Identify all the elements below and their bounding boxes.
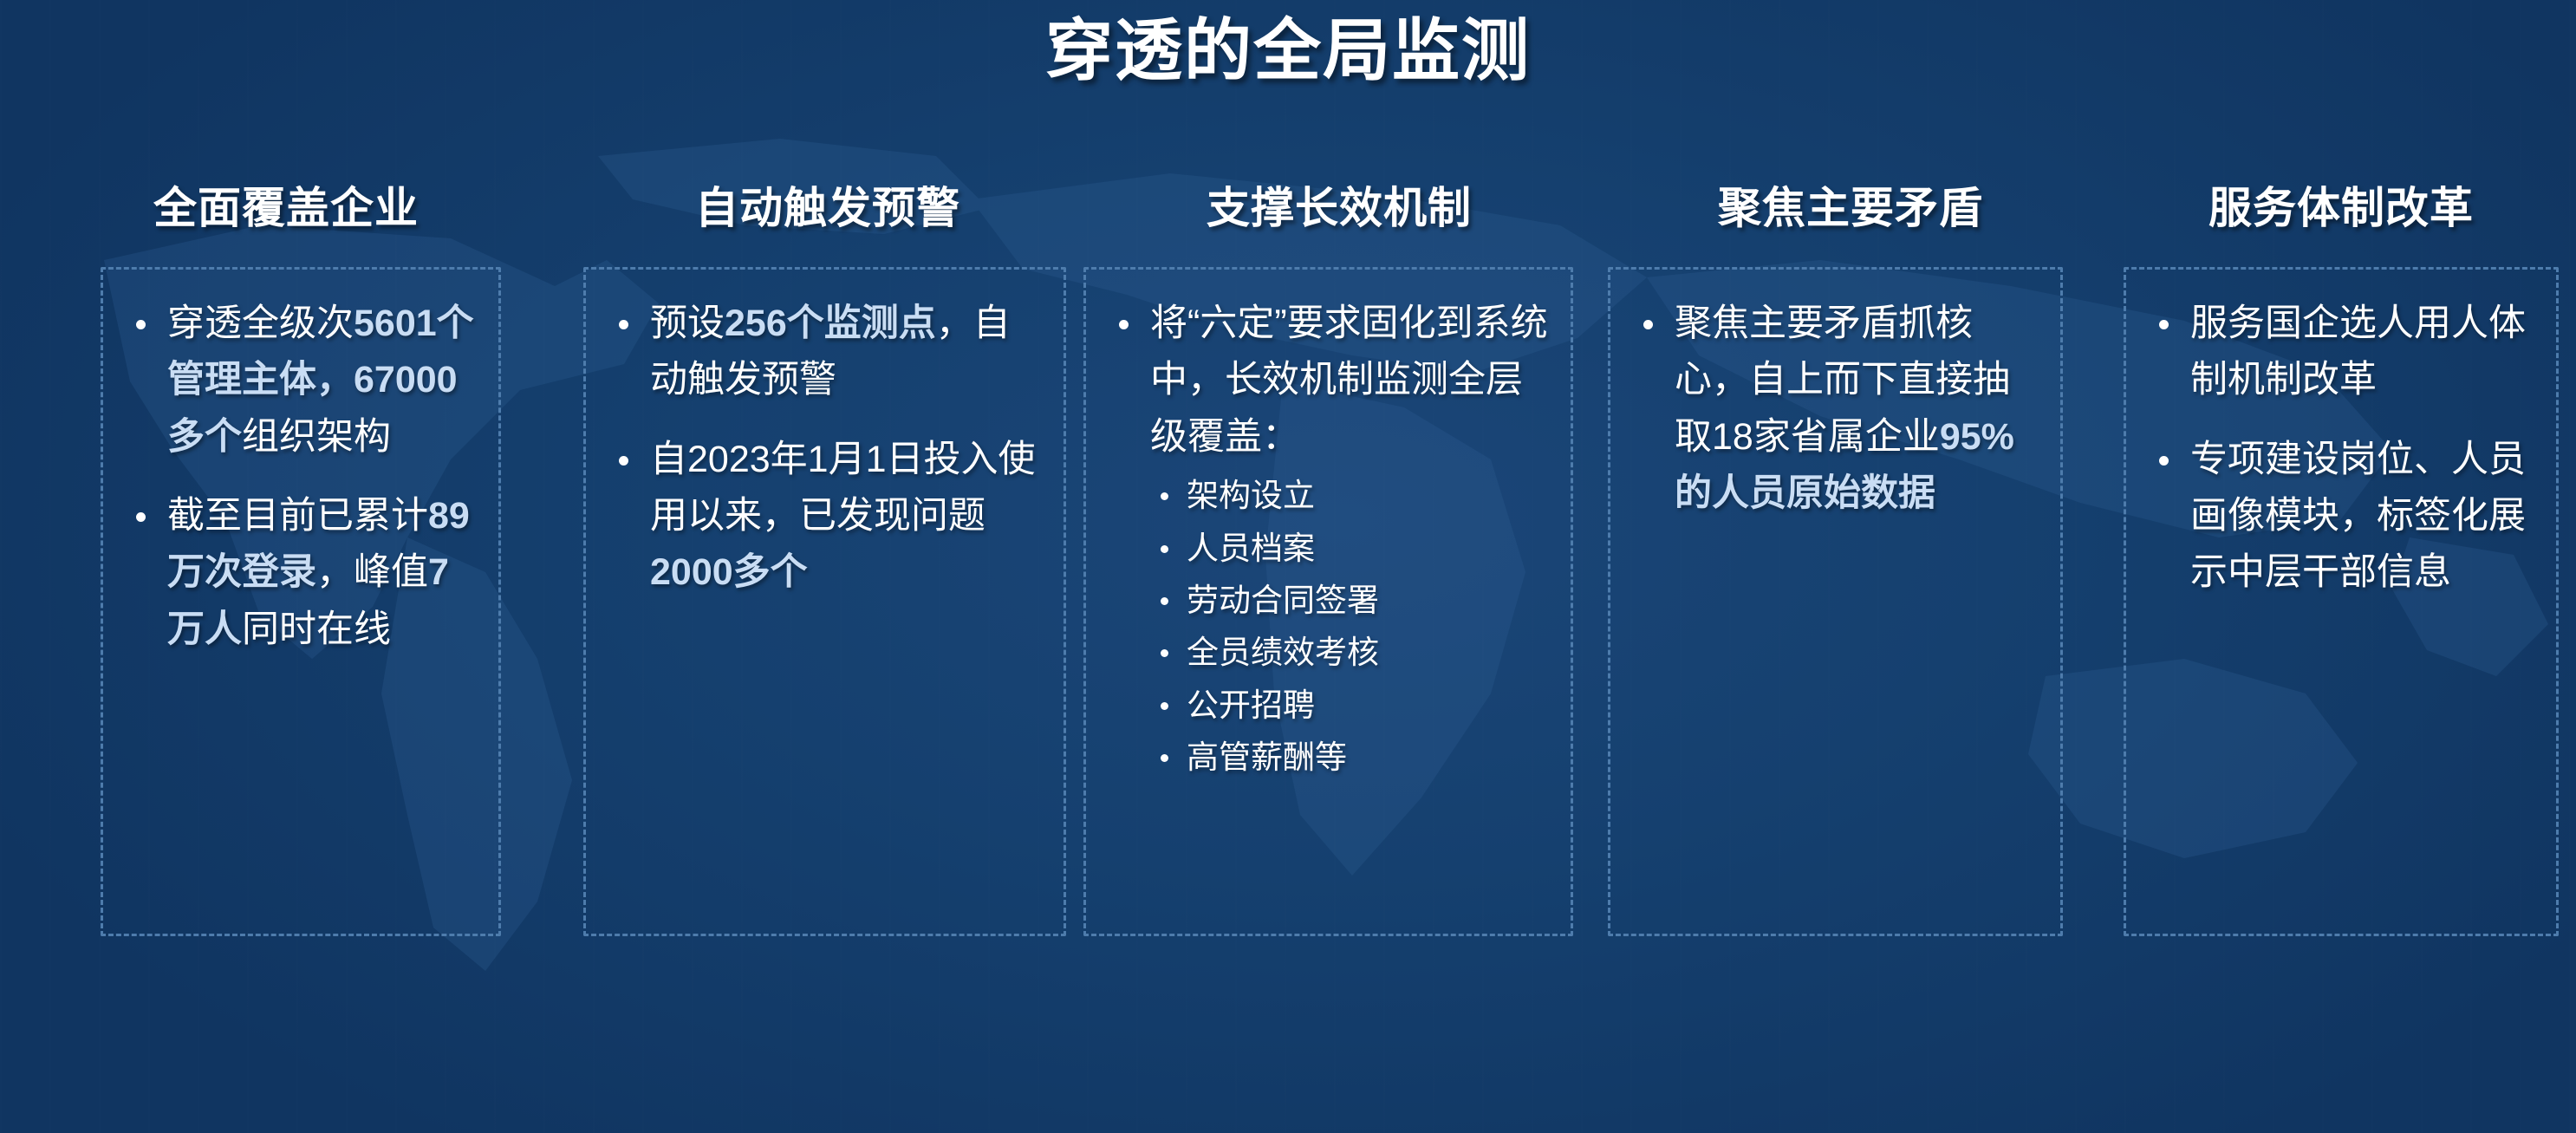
list-item: 聚焦主要矛盾抓核心，自上而下直接抽取18家省属企业95%的人员原始数据: [1630, 296, 2038, 522]
bullet-list-3: 将“六定”要求固化到系统中，长效机制监测全层级覆盖： 架构设立 人员档案 劳动合…: [1105, 296, 1548, 784]
bullet-segment: ，峰值: [316, 551, 428, 593]
slide-canvas: 穿透的全局监测 全面覆盖企业 穿透全级次5601个管理主体，67000多个组织架…: [0, 0, 2576, 1133]
column-key-contradiction: 聚焦主要矛盾 聚焦主要矛盾抓核心，自上而下直接抽取18家省属企业95%的人员原始…: [1595, 182, 2106, 1066]
content-box-4: 聚焦主要矛盾抓核心，自上而下直接抽取18家省属企业95%的人员原始数据: [1608, 267, 2063, 936]
sub-list-item: 劳动合同签署: [1150, 576, 1548, 626]
list-item: 服务国企选人用人体制机制改革: [2145, 296, 2534, 409]
bullet-list-5: 服务国企选人用人体制机制改革 专项建设岗位、人员画像模块，标签化展示中层干部信息: [2145, 296, 2534, 602]
bullet-list-4: 聚焦主要矛盾抓核心，自上而下直接抽取18家省属企业95%的人员原始数据: [1630, 296, 2038, 522]
bullet-segment: 截至目前已累计: [167, 495, 428, 537]
sub-list-item: 架构设立: [1150, 471, 1548, 521]
column-heading-3: 支撑长效机制: [1083, 182, 1595, 234]
column-system-reform: 服务体制改革 服务国企选人用人体制机制改革 专项建设岗位、人员画像模块，标签化展…: [2106, 182, 2576, 1066]
bullet-segment-highlight: 2000多个: [650, 551, 808, 593]
bullet-list-1: 穿透全级次5601个管理主体，67000多个组织架构 截至目前已累计89万次登录…: [122, 296, 476, 658]
column-long-term-mechanism: 支撑长效机制 将“六定”要求固化到系统中，长效机制监测全层级覆盖： 架构设立 人…: [1083, 182, 1595, 1066]
column-heading-5: 服务体制改革: [2106, 182, 2576, 234]
bullet-segment: 穿透全级次: [167, 303, 354, 344]
sub-bullet-list-3: 架构设立 人员档案 劳动合同签署 全员绩效考核 公开招聘 高管薪酬等: [1150, 471, 1548, 784]
content-box-1: 穿透全级次5601个管理主体，67000多个组织架构 截至目前已累计89万次登录…: [101, 267, 501, 936]
list-item: 专项建设岗位、人员画像模块，标签化展示中层干部信息: [2145, 432, 2534, 602]
bullet-segment: 预设: [650, 303, 725, 344]
column-heading-2: 自动触发预警: [572, 182, 1083, 234]
column-auto-alert: 自动触发预警 预设256个监测点，自动触发预警 自2023年1月1日投入使用以来…: [572, 182, 1083, 1066]
sub-list-item: 人员档案: [1150, 524, 1548, 574]
column-heading-1: 全面覆盖企业: [0, 182, 572, 234]
bullet-segment: 组织架构: [242, 416, 391, 458]
bullet-segment-highlight: 256个监测点: [725, 303, 936, 344]
sub-list-item: 公开招聘: [1150, 680, 1548, 731]
content-box-5: 服务国企选人用人体制机制改革 专项建设岗位、人员画像模块，标签化展示中层干部信息: [2124, 267, 2559, 936]
content-box-3: 将“六定”要求固化到系统中，长效机制监测全层级覆盖： 架构设立 人员档案 劳动合…: [1083, 267, 1573, 936]
list-item: 穿透全级次5601个管理主体，67000多个组织架构: [122, 296, 476, 466]
bullet-list-2: 预设256个监测点，自动触发预警 自2023年1月1日投入使用以来，已发现问题2…: [605, 296, 1041, 602]
column-heading-4: 聚焦主要矛盾: [1595, 182, 2106, 234]
list-item: 截至目前已累计89万次登录，峰值7万人同时在线: [122, 488, 476, 658]
column-full-coverage: 全面覆盖企业 穿透全级次5601个管理主体，67000多个组织架构 截至目前已累…: [0, 182, 572, 1066]
list-item: 预设256个监测点，自动触发预警: [605, 296, 1041, 409]
bullet-segment: 同时在线: [242, 609, 391, 650]
sub-list-item: 全员绩效考核: [1150, 628, 1548, 678]
content-box-2: 预设256个监测点，自动触发预警 自2023年1月1日投入使用以来，已发现问题2…: [583, 267, 1066, 936]
list-item: 自2023年1月1日投入使用以来，已发现问题2000多个: [605, 432, 1041, 602]
sub-list-item: 高管薪酬等: [1150, 733, 1548, 783]
bullet-segment: 将“六定”要求固化到系统中，长效机制监测全层级覆盖：: [1150, 303, 1548, 458]
columns-container: 全面覆盖企业 穿透全级次5601个管理主体，67000多个组织架构 截至目前已累…: [0, 182, 2576, 1066]
list-item: 将“六定”要求固化到系统中，长效机制监测全层级覆盖： 架构设立 人员档案 劳动合…: [1105, 296, 1548, 784]
bullet-segment: 自2023年1月1日投入使用以来，已发现问题: [650, 439, 1036, 537]
page-title: 穿透的全局监测: [0, 9, 2576, 94]
